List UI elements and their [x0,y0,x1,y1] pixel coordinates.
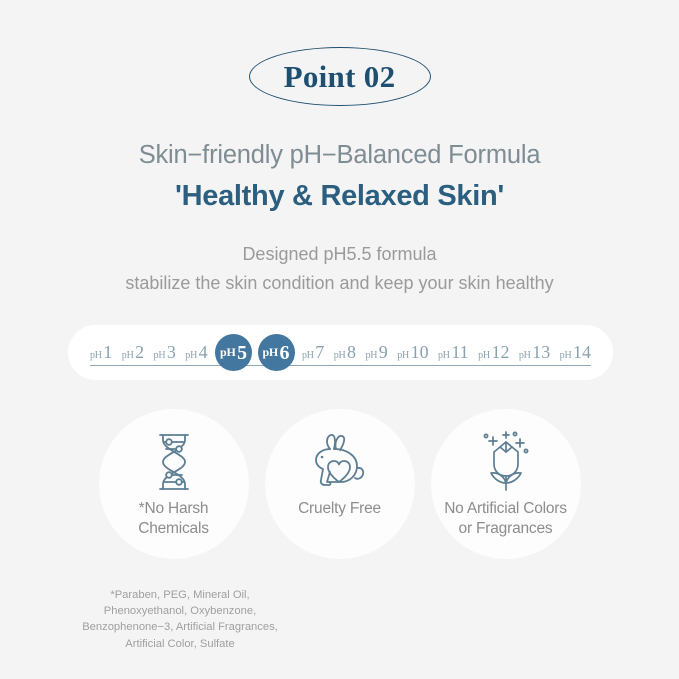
description-line-2: stabilize the skin condition and keep yo… [0,269,679,298]
ph-item-1: pH1 [90,342,112,363]
tulip-sparkle-icon [476,431,536,493]
ph-scale-items: pH1pH2pH3pH4pH5pH6pH7pH8pH9pH10pH11pH12p… [90,325,591,380]
ph-item-14: pH14 [560,342,591,363]
feature-label-line-1: Cruelty Free [298,499,381,519]
ph-item-prefix: pH [220,345,236,360]
ph-item-value: 3 [167,342,176,363]
footnote-line-2: Phenoxyethanol, Oxybenzone, [55,603,305,619]
ph-item-prefix: pH [122,350,134,361]
ph-scale: pH1pH2pH3pH4pH5pH6pH7pH8pH9pH10pH11pH12p… [68,325,613,380]
ph-item-prefix: pH [90,350,102,361]
ph-item-8: pH8 [334,342,356,363]
description-line-1: Designed pH5.5 formula [0,240,679,269]
ph-item-prefix: pH [438,350,450,361]
ph-item-prefix: pH [262,345,278,360]
ph-item-value: 9 [379,342,388,363]
ph-item-prefix: pH [478,350,490,361]
feature-label: *No HarshChemicals [138,499,209,539]
ph-item-11: pH11 [438,342,469,363]
headings-block: Skin−friendly pH−Balanced Formula 'Healt… [0,140,679,214]
feature-list: *No HarshChemicals Cruelty Free No Artif… [0,409,679,559]
ph-item-prefix: pH [154,350,166,361]
ph-item-prefix: pH [185,350,197,361]
ph-item-value: 4 [199,342,208,363]
ph-item-prefix: pH [397,350,409,361]
point-badge: Point 02 [0,47,679,106]
ph-item-prefix: pH [519,350,531,361]
ph-item-value: 1 [103,342,112,363]
ph-item-value: 13 [532,342,550,363]
ph-item-value: 6 [280,343,290,363]
feature-label: Cruelty Free [298,499,381,519]
feature-label-line-1: *No Harsh [138,499,209,519]
point-badge-ellipse: Point 02 [249,47,431,106]
feature-label: No Artificial Colorsor Fragrances [444,499,567,539]
footnote-line-1: *Paraben, PEG, Mineral Oil, [55,587,305,603]
ph-item-value: 10 [411,342,429,363]
point-badge-label: Point 02 [284,61,396,92]
footnote-line-4: Artificial Color, Sulfate [55,636,305,652]
feature-label-line-2: or Fragrances [444,519,567,539]
feature-card-1: *No HarshChemicals [99,409,249,559]
ph-item-value: 8 [347,342,356,363]
ph-item-value: 2 [135,342,144,363]
description-block: Designed pH5.5 formula stabilize the ski… [0,240,679,298]
footnote-line-3: Benzophenone−3, Artificial Fragrances, [55,619,305,635]
ph-item-3: pH3 [154,342,176,363]
feature-card-3: No Artificial Colorsor Fragrances [431,409,581,559]
ph-item-7: pH7 [302,342,324,363]
ph-item-value: 7 [315,342,324,363]
ph-item-5: pH5 [215,334,252,371]
ph-item-prefix: pH [560,350,572,361]
ph-item-value: 5 [237,343,247,363]
ph-item-value: 12 [491,342,509,363]
feature-label-line-2: Chemicals [138,519,209,539]
footnote-block: *Paraben, PEG, Mineral Oil, Phenoxyethan… [55,587,305,652]
ph-item-4: pH4 [185,342,207,363]
ph-item-prefix: pH [302,350,314,361]
ph-item-prefix: pH [365,350,377,361]
ph-item-6: pH6 [258,334,295,371]
dna-helix-icon [147,431,201,493]
page-title: 'Healthy & Relaxed Skin' [0,179,679,214]
subheading: Skin−friendly pH−Balanced Formula [0,140,679,171]
ph-item-10: pH10 [397,342,428,363]
ph-item-value: 11 [451,342,468,363]
ph-item-2: pH2 [122,342,144,363]
ph-item-12: pH12 [478,342,509,363]
feature-label-line-1: No Artificial Colors [444,499,567,519]
rabbit-heart-icon [307,431,373,493]
ph-item-prefix: pH [334,350,346,361]
ph-item-13: pH13 [519,342,550,363]
feature-card-2: Cruelty Free [265,409,415,559]
ph-item-value: 14 [573,342,591,363]
ph-item-9: pH9 [365,342,387,363]
